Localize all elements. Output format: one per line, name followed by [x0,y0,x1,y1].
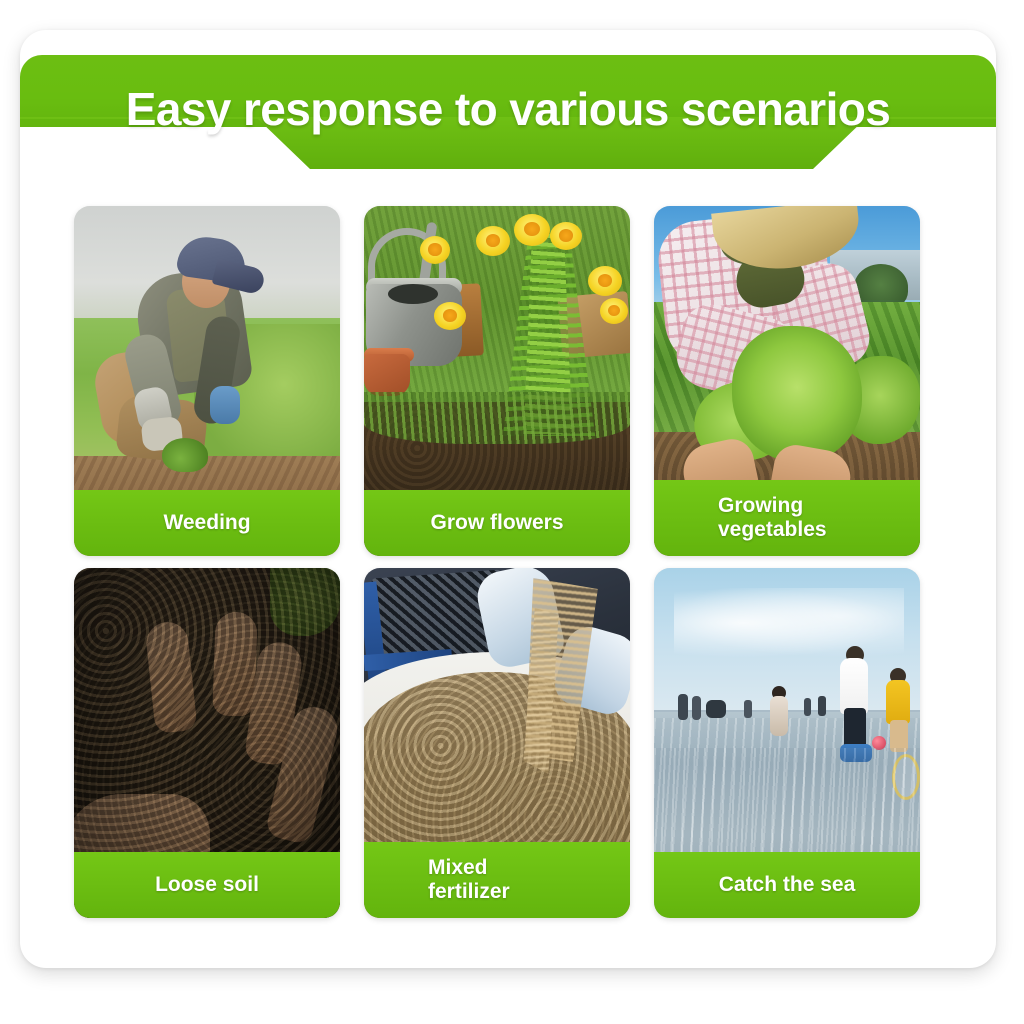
header-banner: Easy response to various scenarios [20,55,996,175]
page-title: Easy response to various scenarios [20,55,996,163]
scenario-label-loose-soil: Loose soil [74,852,340,918]
scenario-label-weeding: Weeding [74,490,340,556]
label-line-2: vegetables [718,518,827,541]
label-line-2: fertilizer [428,880,510,903]
scenario-card-growing-vegetables[interactable]: Growing vegetables [654,206,920,556]
scenario-label-growing-vegetables: Growing vegetables [654,480,920,556]
scenario-label-catch-the-sea: Catch the sea [654,852,920,918]
scenario-grid: Weeding [74,206,954,918]
scenario-card-grow-flowers[interactable]: Grow flowers [364,206,630,556]
scenario-card-catch-the-sea[interactable]: Catch the sea [654,568,920,918]
scenario-label-grow-flowers: Grow flowers [364,490,630,556]
label-line-1: Growing [718,494,803,517]
scenario-card-weeding[interactable]: Weeding [74,206,340,556]
label-line-1: Mixed [428,856,488,879]
product-feature-panel: Easy response to various scenarios [20,30,996,968]
scenario-card-mixed-fertilizer[interactable]: Mixed fertilizer [364,568,630,918]
scenario-label-mixed-fertilizer: Mixed fertilizer [364,842,630,918]
scenario-card-loose-soil[interactable]: Loose soil [74,568,340,918]
